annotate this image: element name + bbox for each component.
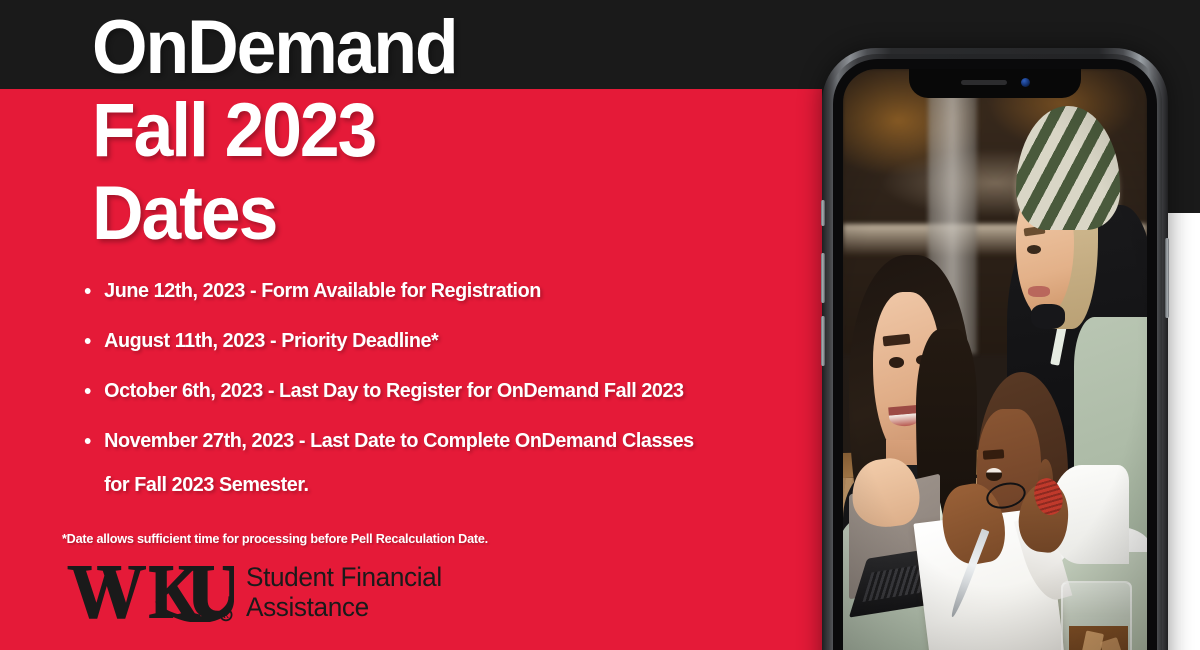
person-beanie-lip: [1028, 286, 1049, 297]
person-front-brow: [983, 449, 1005, 459]
headline-line-2: Fall 2023: [92, 89, 769, 172]
logo-wordmark-text: Student Financial Assistance: [246, 562, 442, 622]
wku-logo-lockup: R Student Financial Assistance: [66, 558, 448, 622]
page-title: OnDemand Fall 2023 Dates: [92, 6, 812, 255]
list-item: June 12th, 2023 - Form Available for Reg…: [80, 276, 794, 305]
registered-mark-icon: R: [223, 610, 229, 620]
headline-line-1: OnDemand: [92, 6, 769, 89]
list-item-text: November 27th, 2023 - Last Date to Compl…: [104, 429, 694, 452]
list-item: August 11th, 2023 - Priority Deadline*: [80, 326, 794, 355]
power-button[interactable]: [1165, 238, 1169, 318]
footnote-text: *Date allows sufficient time for process…: [62, 531, 488, 546]
list-item-text: June 12th, 2023 - Form Available for Reg…: [104, 279, 541, 302]
volume-down-button[interactable]: [821, 316, 825, 366]
list-item: October 6th, 2023 - Last Day to Register…: [80, 376, 794, 405]
person-beanie-eye: [1027, 245, 1041, 254]
person-beanie-collar: [1031, 304, 1064, 329]
phone-notch: [909, 69, 1081, 98]
poster-canvas: OnDemand Fall 2023 Dates June 12th, 2023…: [0, 0, 1200, 650]
headline-line-3: Dates: [92, 172, 769, 255]
phone-screen: [843, 69, 1147, 650]
screen-photo: [843, 69, 1147, 650]
earpiece-speaker-icon: [961, 80, 1007, 85]
silent-switch-button[interactable]: [821, 200, 825, 226]
wku-wordmark-icon: R: [66, 558, 234, 622]
front-camera-icon: [1021, 78, 1030, 87]
list-item-text-continuation: for Fall 2023 Semester.: [104, 470, 794, 499]
volume-up-button[interactable]: [821, 253, 825, 303]
date-list: June 12th, 2023 - Form Available for Reg…: [80, 276, 820, 499]
bullet-dot-icon: [85, 388, 91, 394]
person-front-eye: [986, 468, 1002, 480]
bullet-dot-icon: [85, 288, 91, 294]
logo-words-line-1: Student Financial: [246, 562, 442, 592]
white-right-panel: [1168, 213, 1200, 650]
person-left-eye: [889, 357, 904, 368]
bullet-dot-icon: [85, 338, 91, 344]
bullet-dot-icon: [85, 438, 91, 444]
list-item-text: August 11th, 2023 - Priority Deadline*: [104, 329, 438, 352]
list-item-text: October 6th, 2023 - Last Day to Register…: [104, 379, 683, 402]
list-item: November 27th, 2023 - Last Date to Compl…: [80, 426, 794, 499]
logo-words-line-2: Assistance: [246, 592, 442, 622]
phone-mockup: [822, 48, 1168, 650]
